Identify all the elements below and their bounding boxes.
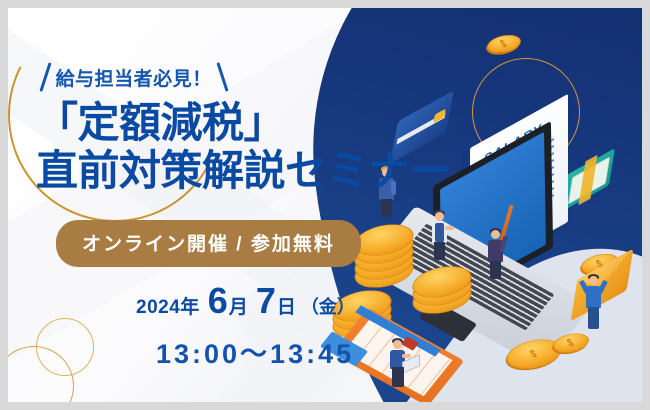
title-line-1: 「定額減税」 <box>36 102 285 144</box>
date-month-unit: 月 <box>229 292 248 319</box>
seminar-banner: $ SALARY <box>0 0 650 410</box>
catch-copy-text: 給与担当者必見！ <box>56 64 212 91</box>
banner-canvas: $ SALARY <box>8 8 642 402</box>
coin-symbol: $ <box>499 38 510 49</box>
coin-symbol: $ <box>566 337 577 348</box>
title-line-2: 直前対策解説セミナー <box>36 150 451 192</box>
slash-right-icon <box>216 62 228 91</box>
date-day-unit: 日 <box>277 292 296 319</box>
event-time: 13:00〜13:45 <box>156 332 354 371</box>
date-weekday: （金） <box>296 293 355 319</box>
catch-copy: 給与担当者必見！ <box>44 62 223 92</box>
text-column: 給与担当者必見！ 「定額減税」 直前対策解説セミナー オンライン開催 / 参加無… <box>8 8 428 402</box>
coin-symbol: $ <box>529 348 540 359</box>
slash-left-icon <box>39 62 51 91</box>
event-date: 2024年 6 月 7 日 （金） <box>136 280 355 322</box>
date-month-number: 6 <box>200 280 229 322</box>
date-year: 2024年 <box>136 292 200 319</box>
date-day-number: 7 <box>248 280 277 322</box>
coin-floating-icon: $ <box>483 35 525 53</box>
event-format-badge: オンライン開催 / 参加無料 <box>56 220 361 267</box>
